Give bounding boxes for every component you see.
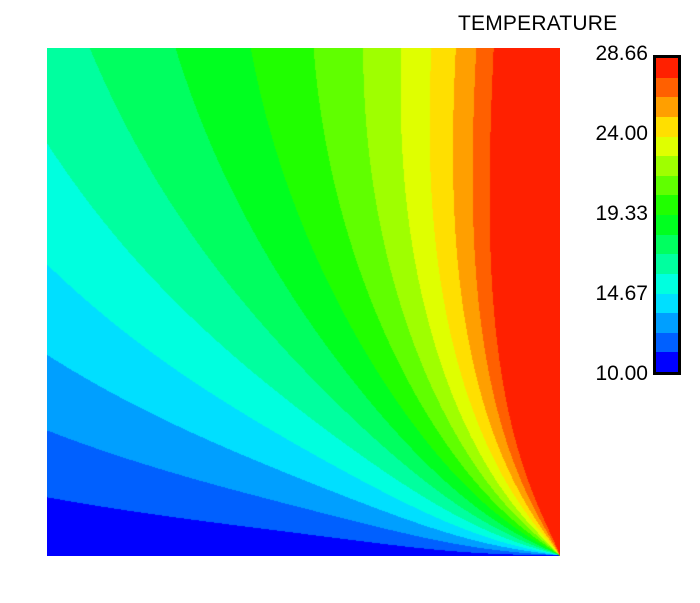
colorbar-band bbox=[656, 274, 678, 294]
colorbar-band bbox=[656, 58, 678, 78]
colorbar-tick-label: 19.33 bbox=[595, 203, 648, 224]
colorbar-band bbox=[656, 156, 678, 176]
colorbar-band bbox=[656, 235, 678, 255]
colorbar-band bbox=[656, 294, 678, 314]
colorbar-tick-label: 24.00 bbox=[595, 123, 648, 144]
colorbar-band bbox=[656, 333, 678, 353]
colorbar-band bbox=[656, 78, 678, 98]
contour-field bbox=[47, 48, 560, 556]
colorbar-band bbox=[656, 254, 678, 274]
colorbar-band bbox=[656, 176, 678, 196]
colorbar-tick-label: 14.67 bbox=[595, 283, 648, 304]
colorbar-band bbox=[656, 195, 678, 215]
colorbar-band bbox=[656, 137, 678, 157]
colorbar-band bbox=[656, 117, 678, 137]
colorbar bbox=[653, 55, 681, 375]
figure-canvas: TEMPERATURE 28.66 24.00 19.33 14.67 10.0… bbox=[0, 0, 700, 603]
colorbar-tick-label: 10.00 bbox=[595, 363, 648, 384]
colorbar-band bbox=[656, 97, 678, 117]
colorbar-title: TEMPERATURE bbox=[458, 12, 650, 36]
contour-plot bbox=[47, 48, 560, 556]
colorbar-band bbox=[656, 352, 678, 372]
colorbar-band bbox=[656, 215, 678, 235]
colorbar-band bbox=[656, 313, 678, 333]
colorbar-tick-label: 28.66 bbox=[595, 43, 648, 64]
